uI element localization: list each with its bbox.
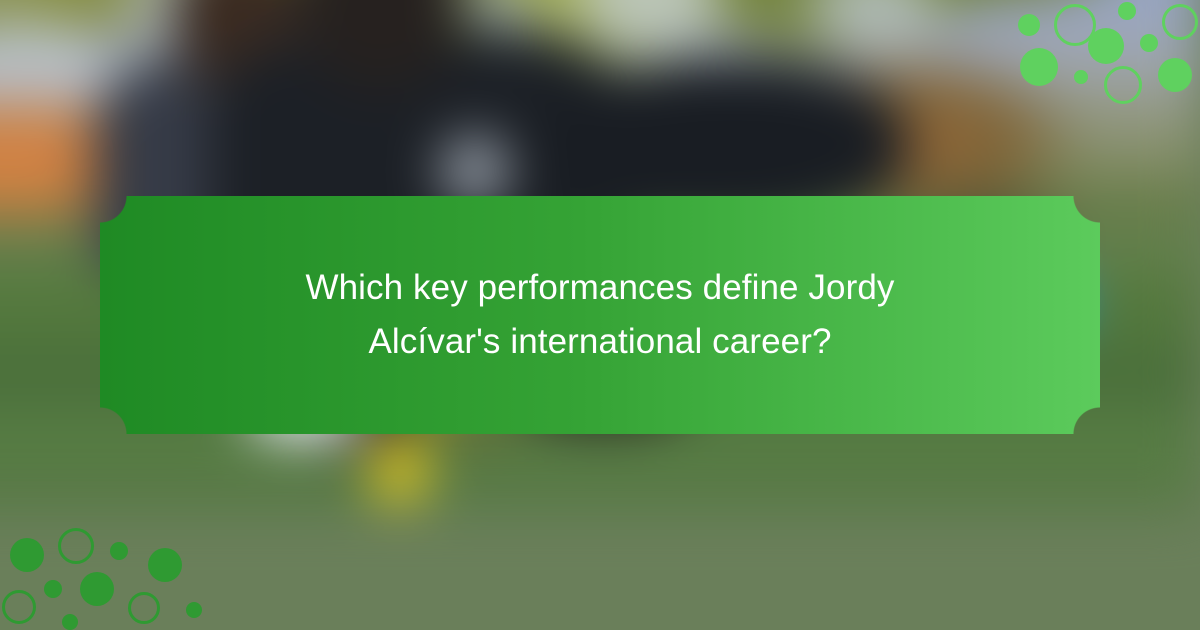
decorative-circle-filled [1158, 58, 1192, 92]
title-card: Which key performances define Jordy Alcí… [100, 196, 1100, 434]
yellow-boot [370, 435, 430, 505]
social-card-image: Which key performances define Jordy Alcí… [0, 0, 1200, 630]
decorative-circle-filled [10, 538, 44, 572]
decorative-circle-filled [110, 542, 128, 560]
decorative-circle-filled [44, 580, 62, 598]
decorative-circle-filled [1118, 2, 1136, 20]
decorative-circle-filled [62, 614, 78, 630]
decorative-circle-outline [2, 590, 36, 624]
decorative-circle-outline [128, 592, 160, 624]
decorative-circles-top-right [990, 0, 1200, 112]
decorative-circle-filled [1018, 14, 1040, 36]
decorative-circle-filled [1074, 70, 1088, 84]
decorative-circle-filled [148, 548, 182, 582]
kit-badge [440, 135, 510, 205]
decorative-circle-filled [1020, 48, 1058, 86]
decorative-circle-filled [186, 602, 202, 618]
decorative-circle-filled [1088, 28, 1124, 64]
page-title: Which key performances define Jordy Alcí… [250, 261, 950, 370]
decorative-circle-filled [80, 572, 114, 606]
decorative-circles-bottom-left [0, 510, 232, 630]
decorative-circle-outline [1104, 66, 1142, 104]
decorative-circle-outline [58, 528, 94, 564]
decorative-circle-outline [1162, 4, 1198, 40]
decorative-circle-filled [1140, 34, 1158, 52]
